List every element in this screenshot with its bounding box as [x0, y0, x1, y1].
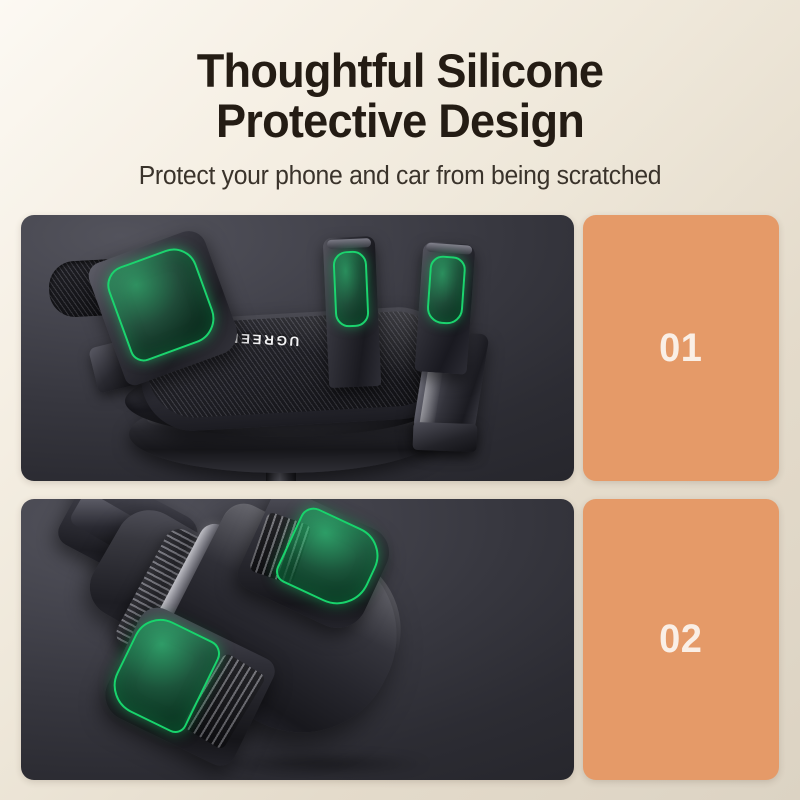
cradle-right-arm-foot: [413, 422, 478, 452]
product-photo-cradle: UGREEN: [21, 215, 574, 481]
product-illustration-cradle: UGREEN: [21, 215, 574, 481]
page-title-line-1: Thoughtful Silicone: [39, 46, 761, 96]
step-badge-01: 01: [583, 215, 779, 481]
step-number-01: 01: [659, 326, 702, 371]
cradle-center-clamp-arm: [323, 236, 381, 388]
step-number-02: 02: [659, 617, 702, 662]
product-feature-page: Thoughtful Silicone Protective Design Pr…: [0, 0, 800, 800]
cradle-right-clamp-arm: [415, 241, 476, 374]
right-silicone-pad: [426, 255, 467, 325]
product-photo-vent-clip: [21, 499, 574, 780]
header: Thoughtful Silicone Protective Design Pr…: [0, 46, 800, 191]
step-badge-02: 02: [583, 499, 779, 780]
feature-section-01: UGREEN: [21, 215, 779, 481]
page-subtitle: Protect your phone and car from being sc…: [35, 161, 764, 192]
feature-section-02: 02: [21, 499, 779, 780]
page-title-line-2: Protective Design: [39, 96, 761, 146]
center-arm-cap: [327, 238, 371, 249]
center-silicone-pad: [332, 250, 369, 327]
product-illustration-vent-clip: [21, 499, 574, 780]
